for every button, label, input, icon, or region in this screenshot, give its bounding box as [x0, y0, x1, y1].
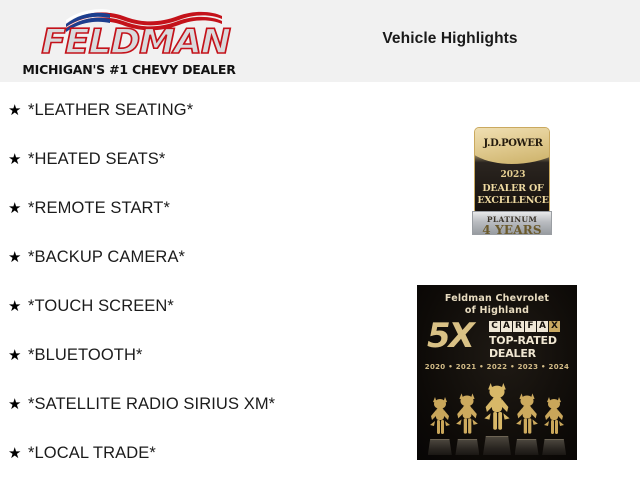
page-title: Vehicle Highlights	[300, 30, 600, 48]
carfax-years-label: 2020 • 2021 • 2022 • 2023 • 2024	[417, 363, 577, 371]
trophy-base	[483, 436, 511, 455]
star-bullet-icon: ★	[8, 152, 28, 167]
carfax-trophy-row	[427, 377, 567, 455]
list-item-label: *HEATED SEATS*	[28, 150, 165, 169]
list-item: ★ *HEATED SEATS*	[0, 135, 340, 184]
list-item-label: *TOUCH SCREEN*	[28, 297, 174, 316]
fox-trophy-icon	[543, 393, 565, 439]
carfax-letter: R	[513, 321, 524, 332]
carfax-award-line1: TOP-RATED	[489, 334, 567, 347]
fox-trophy-icon	[429, 393, 451, 439]
carfax-dealer-line2: of Highland	[417, 305, 577, 316]
header-bar: FELDMAN MICHIGAN'S #1 CHEVY DEALER Vehic…	[0, 0, 640, 82]
jd-power-base-plate: PLATINUM 4 YEARS	[472, 211, 552, 235]
fox-trophy-icon	[455, 389, 479, 439]
jd-power-year-label: 2023	[475, 170, 550, 180]
carfax-trophy	[482, 378, 512, 455]
jd-power-award-line1: DEALER OF	[475, 183, 550, 194]
trophy-base	[455, 439, 479, 455]
jd-power-award-badge: J.D.POWER 2023 DEALER OF EXCELLENCE PLAT…	[472, 127, 552, 235]
star-bullet-icon: ★	[8, 397, 28, 412]
carfax-dealer-line1: Feldman Chevrolet	[417, 293, 577, 304]
dealer-logo: FELDMAN MICHIGAN'S #1 CHEVY DEALER	[18, 6, 240, 78]
vehicle-highlights-list: ★ *LEATHER SEATING* ★ *HEATED SEATS* ★ *…	[0, 86, 340, 478]
trophy-base	[428, 439, 452, 455]
star-bullet-icon: ★	[8, 446, 28, 461]
star-bullet-icon: ★	[8, 348, 28, 363]
fox-trophy-icon	[515, 389, 539, 439]
list-item-label: *LEATHER SEATING*	[28, 101, 193, 120]
carfax-multiplier-label: 5X	[427, 319, 473, 353]
carfax-trophy	[455, 389, 481, 455]
list-item-label: *BLUETOOTH*	[28, 346, 143, 365]
list-item-label: *BACKUP CAMERA*	[28, 248, 185, 267]
carfax-brand-logo: C A R F A X	[489, 321, 567, 332]
carfax-letter: A	[537, 321, 548, 332]
list-item: ★ *LEATHER SEATING*	[0, 86, 340, 135]
list-item: ★ *TOUCH SCREEN*	[0, 282, 340, 331]
carfax-trophy	[541, 393, 567, 455]
list-item-label: *SATELLITE RADIO SIRIUS XM*	[28, 395, 275, 414]
list-item: ★ *SATELLITE RADIO SIRIUS XM*	[0, 380, 340, 429]
fox-trophy-icon	[483, 378, 511, 436]
trophy-base	[515, 439, 539, 455]
list-item: ★ *BACKUP CAMERA*	[0, 233, 340, 282]
list-item: ★ *REMOTE START*	[0, 184, 340, 233]
star-bullet-icon: ★	[8, 201, 28, 216]
carfax-letter: A	[501, 321, 512, 332]
list-item-label: *REMOTE START*	[28, 199, 170, 218]
carfax-letter: C	[489, 321, 500, 332]
trophy-base	[542, 439, 566, 455]
list-item: ★ *BLUETOOTH*	[0, 331, 340, 380]
star-bullet-icon: ★	[8, 103, 28, 118]
list-item: ★ *LOCAL TRADE*	[0, 429, 340, 478]
carfax-award-block: C A R F A X TOP-RATED DEALER	[489, 321, 567, 360]
carfax-award-line2: DEALER	[489, 347, 567, 360]
jd-power-award-line2: EXCELLENCE	[475, 195, 550, 206]
jd-power-brand-label: J.D.POWER	[475, 138, 550, 149]
list-item-label: *LOCAL TRADE*	[28, 444, 156, 463]
carfax-award-panel: Feldman Chevrolet of Highland 5X C A R F…	[417, 285, 577, 460]
star-bullet-icon: ★	[8, 250, 28, 265]
jd-power-plate: J.D.POWER 2023 DEALER OF EXCELLENCE	[474, 127, 550, 215]
jd-power-duration-label: 4 YEARS	[473, 223, 551, 237]
star-bullet-icon: ★	[8, 299, 28, 314]
carfax-trophy	[514, 389, 540, 455]
carfax-letter: X	[549, 321, 560, 332]
carfax-letter: F	[525, 321, 536, 332]
logo-tagline: MICHIGAN'S #1 CHEVY DEALER	[18, 62, 240, 77]
logo-wordmark: FELDMAN	[18, 24, 253, 60]
carfax-trophy	[427, 393, 453, 455]
vehicle-highlights-page: FELDMAN MICHIGAN'S #1 CHEVY DEALER Vehic…	[0, 0, 640, 480]
